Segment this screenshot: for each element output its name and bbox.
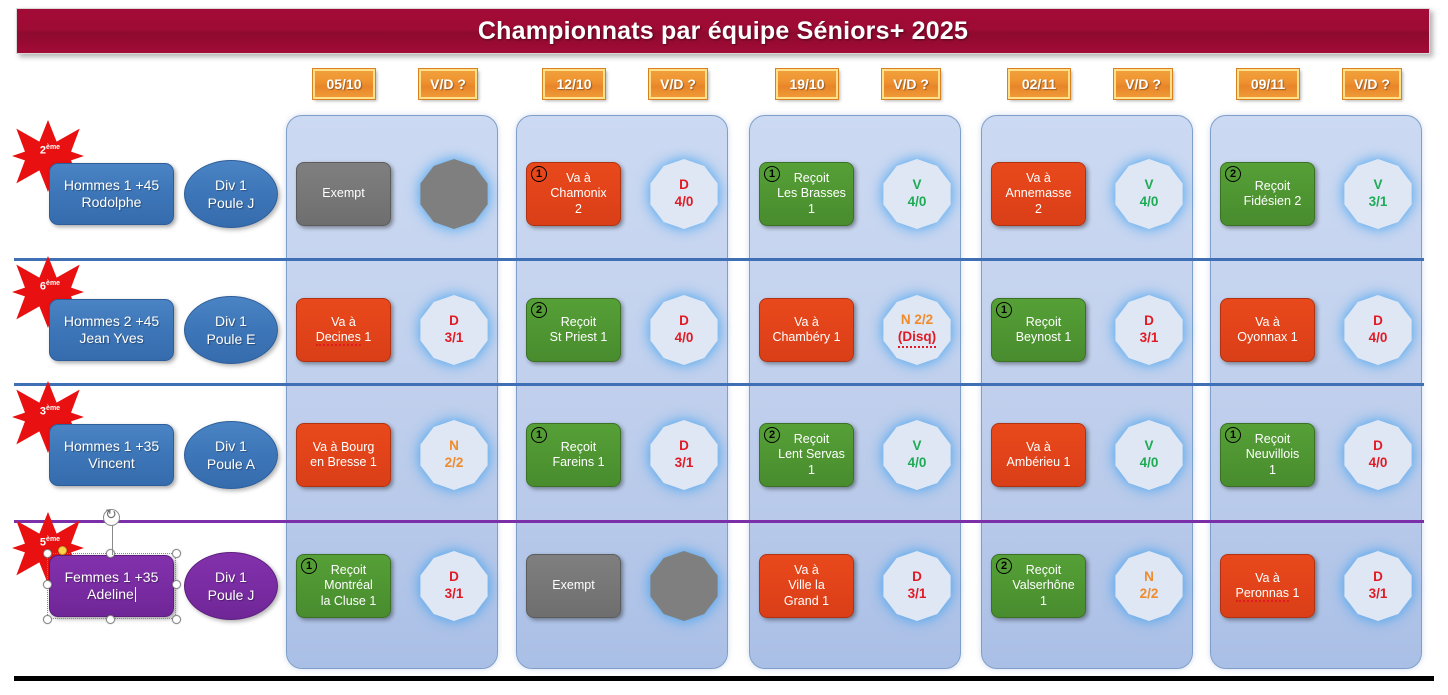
- result-shape-r1-c3[interactable]: V4/0: [882, 159, 952, 229]
- match-label-line: en Bresse 1: [310, 455, 377, 470]
- match-label-line: Neuvillois: [1246, 447, 1300, 462]
- match-label: Va àOyonnax 1: [1237, 315, 1297, 346]
- match-box-r2-c1[interactable]: Va àDecines 1: [296, 298, 391, 362]
- match-label-line: 2: [1005, 202, 1071, 217]
- result-outcome: D: [912, 569, 922, 586]
- match-label-line: Decines 1: [316, 330, 372, 345]
- result-shape-r4-c5[interactable]: D3/1: [1343, 551, 1413, 621]
- match-label-line: Va à: [550, 171, 606, 186]
- match-box-r3-c4[interactable]: Va àAmbérieu 1: [991, 423, 1086, 487]
- result-wrapper-r4-c2: [645, 547, 723, 625]
- result-shape-r3-c3[interactable]: V4/0: [882, 420, 952, 490]
- result-score: 4/0: [908, 194, 927, 211]
- match-label: Va àVille laGrand 1: [784, 563, 829, 609]
- team-box-row-2[interactable]: Hommes 2 +45Jean Yves: [49, 299, 174, 361]
- match-box-r4-c1[interactable]: 1ReçoitMontréalla Cluse 1: [296, 554, 391, 618]
- result-outcome: D: [1373, 313, 1383, 330]
- rank-label: 5ème: [40, 536, 60, 549]
- match-label-line: Lent Servas: [778, 447, 845, 462]
- team-name-line1: Hommes 2 +45: [64, 313, 159, 331]
- result-wrapper-r2-c3: N 2/2(Disq): [878, 291, 956, 369]
- pool-division: Div 1: [215, 176, 247, 194]
- result-outcome: D: [449, 313, 459, 330]
- result-wrapper-r1-c3: V4/0: [878, 155, 956, 233]
- match-box-r4-c4[interactable]: 2ReçoitValserhône1: [991, 554, 1086, 618]
- result-wrapper-r4-c3: D3/1: [878, 547, 956, 625]
- selection-handle-3[interactable]: [172, 549, 181, 558]
- match-box-r3-c3[interactable]: 2ReçoitLent Servas1: [759, 423, 854, 487]
- match-label-line: Beynost 1: [1016, 330, 1072, 345]
- pool-division: Div 1: [215, 568, 247, 586]
- match-order-badge: 2: [1225, 166, 1241, 182]
- result-outcome: D: [1373, 569, 1383, 586]
- result-score: 3/1: [675, 455, 694, 472]
- result-outcome: D: [1144, 313, 1154, 330]
- result-score: 2/2: [1140, 586, 1159, 603]
- team-box-row-3[interactable]: Hommes 1 +35Vincent: [49, 424, 174, 486]
- result-score: 3/1: [908, 586, 927, 603]
- result-outcome: D: [449, 569, 459, 586]
- match-label: ReçoitBeynost 1: [1016, 315, 1072, 346]
- result-outcome: N: [449, 438, 459, 455]
- match-order-badge: 1: [531, 166, 547, 182]
- match-label-line: Reçoit: [1012, 563, 1074, 578]
- slide-bottom-rule: [14, 676, 1434, 681]
- pool-oval-row-3[interactable]: Div 1Poule A: [184, 421, 278, 489]
- match-label-line: Va à: [1005, 171, 1071, 186]
- match-label-line: Reçoit: [1246, 432, 1300, 447]
- date-chip-4[interactable]: 02/11: [1008, 69, 1070, 99]
- match-label-line: 2: [550, 202, 606, 217]
- match-label-line: Reçoit: [552, 440, 604, 455]
- result-wrapper-r1-c5: V3/1: [1339, 155, 1417, 233]
- presentation-title-banner: Championnats par équipe Séniors+ 2025: [16, 8, 1430, 54]
- result-header-chip-2[interactable]: V/D ?: [649, 69, 707, 99]
- match-order-badge: 1: [1225, 427, 1241, 443]
- result-wrapper-r1-c4: V4/0: [1110, 155, 1188, 233]
- match-label-line: Oyonnax 1: [1237, 330, 1297, 345]
- team-captain-line2: Jean Yves: [79, 330, 143, 348]
- match-label: ReçoitNeuvillois1: [1246, 432, 1300, 478]
- shape-adjust-handle[interactable]: [58, 546, 67, 555]
- match-label-line: Exempt: [552, 578, 594, 593]
- result-header-chip-5[interactable]: V/D ?: [1343, 69, 1401, 99]
- match-label-line: Va à: [772, 315, 840, 330]
- result-shape-r3-c1[interactable]: N2/2: [419, 420, 489, 490]
- match-label-line: Valserhône: [1012, 578, 1074, 593]
- rotation-stem: [112, 525, 113, 555]
- match-label: Va àDecines 1: [316, 315, 372, 346]
- match-label-line: Ville la: [784, 578, 829, 593]
- match-label-line: Exempt: [322, 186, 364, 201]
- match-box-r2-c4[interactable]: 1ReçoitBeynost 1: [991, 298, 1086, 362]
- result-outcome: D: [679, 177, 689, 194]
- selection-handle-7[interactable]: [106, 615, 115, 624]
- match-label: Va àPeronnas 1: [1236, 571, 1300, 602]
- match-label: ReçoitSt Priest 1: [550, 315, 608, 346]
- match-order-badge: 2: [531, 302, 547, 318]
- result-wrapper-r2-c4: D3/1: [1110, 291, 1188, 369]
- match-label-line: Reçoit: [321, 563, 377, 578]
- date-chip-3[interactable]: 19/10: [776, 69, 838, 99]
- selection-outline: [47, 553, 176, 619]
- match-box-r4-c3[interactable]: Va àVille laGrand 1: [759, 554, 854, 618]
- match-label-line: Montréal: [321, 578, 377, 593]
- match-label: Va à Bourgen Bresse 1: [310, 440, 377, 471]
- row-separator-1: [14, 258, 1424, 261]
- date-chip-5[interactable]: 09/11: [1237, 69, 1299, 99]
- result-shape-r3-c2[interactable]: D3/1: [649, 420, 719, 490]
- match-order-badge: 1: [996, 302, 1012, 318]
- match-label-line: Reçoit: [1244, 179, 1302, 194]
- result-header-chip-4[interactable]: V/D ?: [1114, 69, 1172, 99]
- match-label-line: Va à: [1007, 440, 1071, 455]
- match-label: Exempt: [552, 578, 594, 593]
- result-wrapper-r3-c1: N2/2: [415, 416, 493, 494]
- match-label-line: St Priest 1: [550, 330, 608, 345]
- match-label-line: Fidésien 2: [1244, 194, 1302, 209]
- result-wrapper-r3-c4: V4/0: [1110, 416, 1188, 494]
- match-box-r3-c5[interactable]: 1ReçoitNeuvillois1: [1220, 423, 1315, 487]
- result-shape-r2-c3[interactable]: N 2/2(Disq): [882, 295, 952, 365]
- result-outcome: V: [912, 177, 921, 194]
- match-label: Va àChamonix2: [550, 171, 606, 217]
- match-label-line: Les Brasses 1: [774, 186, 849, 217]
- date-chip-2[interactable]: 12/10: [543, 69, 605, 99]
- date-chip-1[interactable]: 05/10: [313, 69, 375, 99]
- rank-label: 3ème: [40, 405, 60, 418]
- team-name-line1: Hommes 1 +35: [64, 438, 159, 456]
- selection-handle-8[interactable]: [172, 615, 181, 624]
- result-outcome: V: [912, 438, 921, 455]
- result-score: 2/2: [445, 455, 464, 472]
- result-shape-r4-c2[interactable]: [649, 551, 719, 621]
- team-captain-line2: Vincent: [88, 455, 134, 473]
- match-label-line: Fareins 1: [552, 455, 604, 470]
- match-box-r4-c5[interactable]: Va àPeronnas 1: [1220, 554, 1315, 618]
- pool-group: Poule J: [208, 586, 255, 604]
- pool-group: Poule E: [206, 330, 255, 348]
- pool-oval-row-1[interactable]: Div 1Poule J: [184, 160, 278, 228]
- result-shape-r4-c3[interactable]: D3/1: [882, 551, 952, 621]
- match-box-r3-c2[interactable]: 1ReçoitFareins 1: [526, 423, 621, 487]
- result-wrapper-r1-c1: [415, 155, 493, 233]
- match-label-line: Va à: [1237, 315, 1297, 330]
- match-label-line: Chambéry 1: [772, 330, 840, 345]
- result-header-chip-1[interactable]: V/D ?: [419, 69, 477, 99]
- result-wrapper-r2-c1: D3/1: [415, 291, 493, 369]
- match-label-line: Grand 1: [784, 594, 829, 609]
- match-label-line: Reçoit: [778, 432, 845, 447]
- rotation-handle[interactable]: [103, 509, 120, 526]
- row-separator-3: [14, 520, 1424, 523]
- match-box-r4-c2[interactable]: Exempt: [526, 554, 621, 618]
- result-shape-r1-c1[interactable]: [419, 159, 489, 229]
- result-shape-r4-c4[interactable]: N2/2: [1114, 551, 1184, 621]
- team-name-line1: Hommes 1 +45: [64, 177, 159, 195]
- team-captain-line2: Rodolphe: [82, 194, 142, 212]
- selection-handle-1[interactable]: [43, 549, 52, 558]
- result-score: 3/1: [445, 586, 464, 603]
- result-shape-r3-c5[interactable]: D4/0: [1343, 420, 1413, 490]
- result-outcome: D: [679, 313, 689, 330]
- pool-division: Div 1: [215, 312, 247, 330]
- result-outcome: D: [1373, 438, 1383, 455]
- match-label-line: Va à Bourg: [310, 440, 377, 455]
- result-score: 4/0: [1369, 330, 1388, 347]
- result-shape-r1-c2[interactable]: D4/0: [649, 159, 719, 229]
- match-box-r1-c1[interactable]: Exempt: [296, 162, 391, 226]
- result-score: 4/0: [908, 455, 927, 472]
- result-score: 3/1: [1369, 194, 1388, 211]
- selection-handle-5[interactable]: [172, 580, 181, 589]
- match-label: ReçoitValserhône1: [1012, 563, 1074, 609]
- result-shape-r1-c4[interactable]: V4/0: [1114, 159, 1184, 229]
- match-order-badge: 1: [301, 558, 317, 574]
- pool-group: Poule J: [208, 194, 255, 212]
- result-shape-r1-c5[interactable]: V3/1: [1343, 159, 1413, 229]
- match-label-line: Ambérieu 1: [1007, 455, 1071, 470]
- match-box-r2-c3[interactable]: Va àChambéry 1: [759, 298, 854, 362]
- result-score: 3/1: [445, 330, 464, 347]
- match-box-r3-c1[interactable]: Va à Bourgen Bresse 1: [296, 423, 391, 487]
- pool-division: Div 1: [215, 437, 247, 455]
- match-order-badge: 2: [764, 427, 780, 443]
- match-label: ReçoitMontréalla Cluse 1: [321, 563, 377, 609]
- result-score: 3/1: [1140, 330, 1159, 347]
- selection-handle-4[interactable]: [43, 580, 52, 589]
- match-box-r2-c5[interactable]: Va àOyonnax 1: [1220, 298, 1315, 362]
- match-label: Va àChambéry 1: [772, 315, 840, 346]
- match-label: Va àAnnemasse2: [1005, 171, 1071, 217]
- match-box-r1-c5[interactable]: 2ReçoitFidésien 2: [1220, 162, 1315, 226]
- match-label-line: 1: [778, 463, 845, 478]
- result-wrapper-r2-c2: D4/0: [645, 291, 723, 369]
- match-label: Exempt: [322, 186, 364, 201]
- result-score: 4/0: [675, 194, 694, 211]
- result-wrapper-r3-c2: D3/1: [645, 416, 723, 494]
- result-shape-r2-c2[interactable]: D4/0: [649, 295, 719, 365]
- result-wrapper-r4-c5: D3/1: [1339, 547, 1417, 625]
- match-label-line: 1: [1246, 463, 1300, 478]
- rank-label: 6ème: [40, 280, 60, 293]
- match-label-line: Reçoit: [774, 171, 849, 186]
- result-outcome: N: [1144, 569, 1154, 586]
- result-outcome: D: [679, 438, 689, 455]
- result-wrapper-r2-c5: D4/0: [1339, 291, 1417, 369]
- match-label: ReçoitLent Servas1: [778, 432, 845, 478]
- result-shape-r2-c5[interactable]: D4/0: [1343, 295, 1413, 365]
- match-label: ReçoitFidésien 2: [1244, 179, 1302, 210]
- match-box-r2-c2[interactable]: 2ReçoitSt Priest 1: [526, 298, 621, 362]
- result-wrapper-r4-c1: D3/1: [415, 547, 493, 625]
- team-box-row-1[interactable]: Hommes 1 +45Rodolphe: [49, 163, 174, 225]
- result-header-chip-3[interactable]: V/D ?: [882, 69, 940, 99]
- result-outcome: N 2/2: [901, 312, 933, 329]
- match-label: ReçoitFareins 1: [552, 440, 604, 471]
- result-score: 4/0: [1369, 455, 1388, 472]
- result-score: 4/0: [1140, 455, 1159, 472]
- pool-oval-row-2[interactable]: Div 1Poule E: [184, 296, 278, 364]
- match-label-line: 1: [1012, 594, 1074, 609]
- match-order-badge: 1: [764, 166, 780, 182]
- result-shape-r2-c1[interactable]: D3/1: [419, 295, 489, 365]
- page-title: Championnats par équipe Séniors+ 2025: [478, 17, 968, 46]
- match-label-line: Peronnas 1: [1236, 586, 1300, 601]
- match-label: ReçoitLes Brasses 1: [774, 171, 849, 217]
- match-label-line: la Cluse 1: [321, 594, 377, 609]
- result-score: 4/0: [675, 330, 694, 347]
- result-wrapper-r4-c4: N2/2: [1110, 547, 1188, 625]
- result-wrapper-r3-c3: V4/0: [878, 416, 956, 494]
- match-box-r1-c4[interactable]: Va àAnnemasse2: [991, 162, 1086, 226]
- match-label-line: Reçoit: [550, 315, 608, 330]
- selection-handle-2[interactable]: [106, 549, 115, 558]
- result-score: 4/0: [1140, 194, 1159, 211]
- match-box-r1-c2[interactable]: 1Va àChamonix2: [526, 162, 621, 226]
- result-shape-r2-c4[interactable]: D3/1: [1114, 295, 1184, 365]
- match-label-line: Va à: [784, 563, 829, 578]
- rank-label: 2ème: [40, 144, 60, 157]
- match-label-line: Va à: [1236, 571, 1300, 586]
- pool-oval-row-4[interactable]: Div 1Poule J: [184, 552, 278, 620]
- row-separator-2: [14, 383, 1424, 386]
- match-label-line: Chamonix: [550, 186, 606, 201]
- match-order-badge: 2: [996, 558, 1012, 574]
- match-label-line: Annemasse: [1005, 186, 1071, 201]
- result-shape-r4-c1[interactable]: D3/1: [419, 551, 489, 621]
- result-score: (Disq): [898, 329, 936, 348]
- result-score: 3/1: [1369, 586, 1388, 603]
- match-order-badge: 1: [531, 427, 547, 443]
- match-label-line: Va à: [316, 315, 372, 330]
- result-outcome: V: [1144, 438, 1153, 455]
- result-outcome: V: [1373, 177, 1382, 194]
- match-label-line: Reçoit: [1016, 315, 1072, 330]
- selection-handle-6[interactable]: [43, 615, 52, 624]
- result-outcome: V: [1144, 177, 1153, 194]
- match-box-r1-c3[interactable]: 1ReçoitLes Brasses 1: [759, 162, 854, 226]
- match-label: Va àAmbérieu 1: [1007, 440, 1071, 471]
- result-wrapper-r3-c5: D4/0: [1339, 416, 1417, 494]
- pool-group: Poule A: [207, 455, 255, 473]
- result-wrapper-r1-c2: D4/0: [645, 155, 723, 233]
- result-shape-r3-c4[interactable]: V4/0: [1114, 420, 1184, 490]
